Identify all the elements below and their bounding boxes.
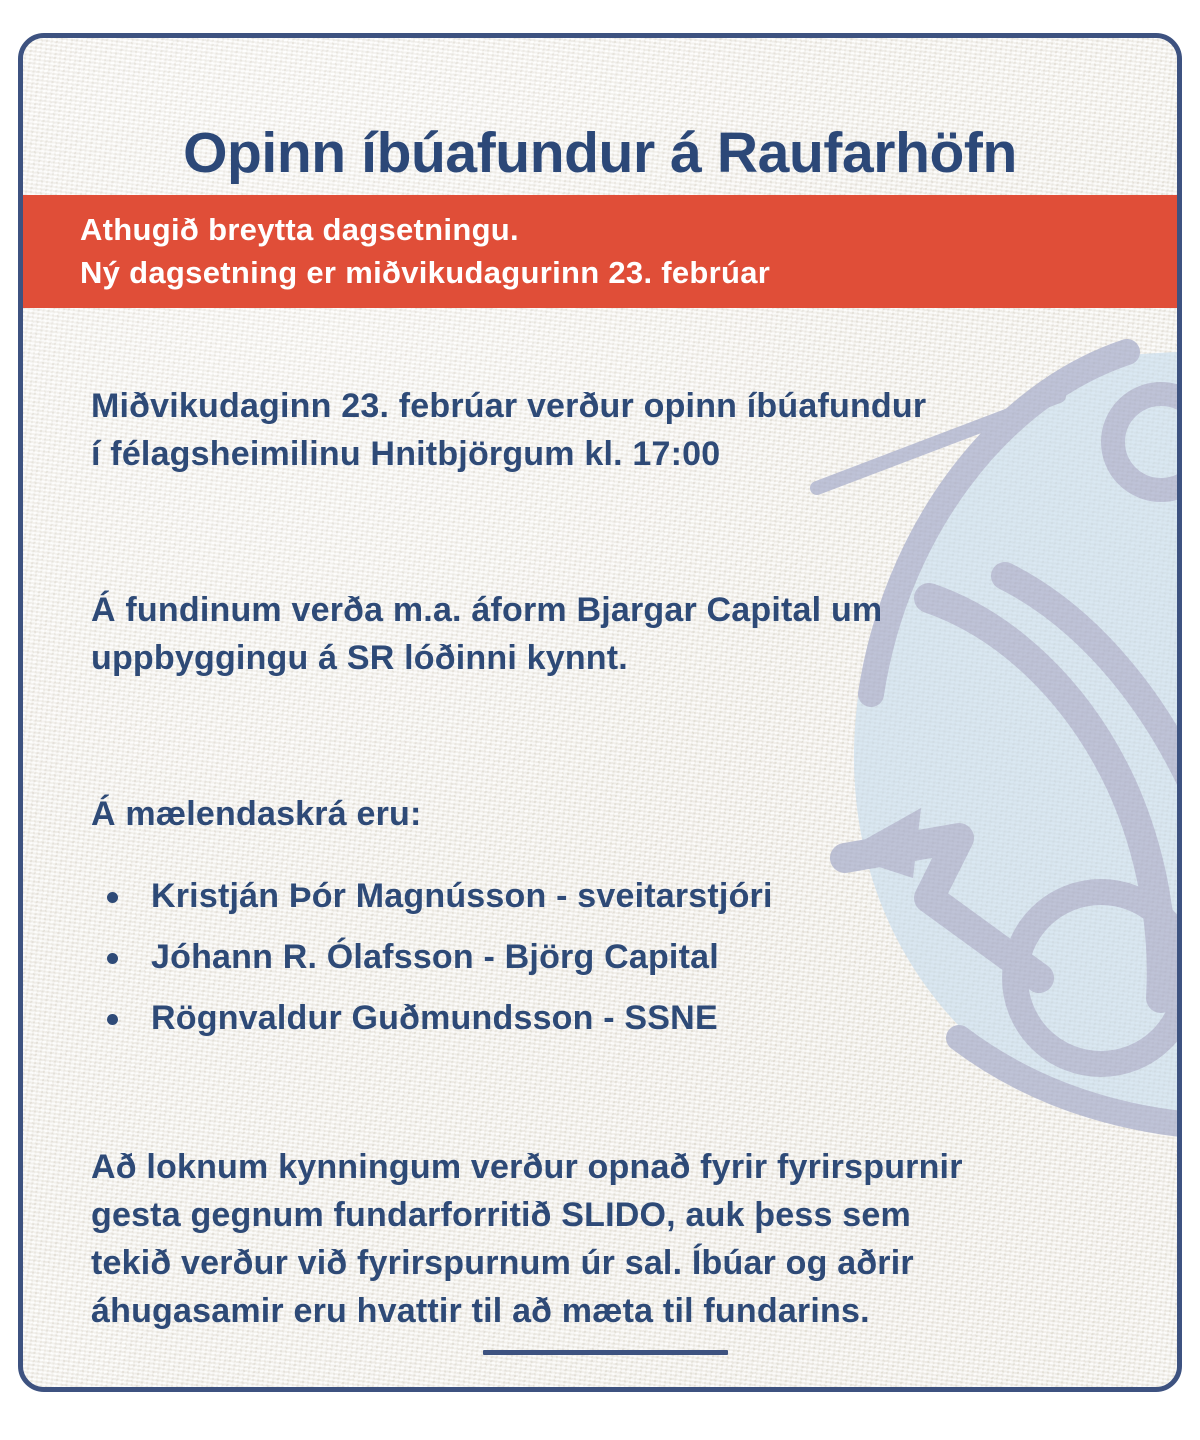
list-item: Jóhann R. Ólafsson - Björg Capital	[91, 933, 1137, 981]
speaker-name: Rögnvaldur Guðmundsson - SSNE	[151, 999, 718, 1037]
spacer	[91, 512, 1137, 552]
meeting-time-paragraph: Miðvikudaginn 23. febrúar verður opinn í…	[91, 382, 1137, 478]
list-item: Rögnvaldur Guðmundsson - SSNE	[91, 994, 1137, 1042]
questions-line-1: Að loknum kynningum verður opnað fyrir f…	[91, 1143, 1137, 1191]
body-text-region: Miðvikudaginn 23. febrúar verður opinn í…	[91, 348, 1137, 1392]
poster-content: Opinn íbúafundur á Raufarhöfn Athugið br…	[23, 38, 1177, 1387]
date-change-alert-banner: Athugið breytta dagsetningu. Ný dagsetni…	[22, 195, 1178, 308]
spacer	[91, 1055, 1137, 1109]
speaker-name: Jóhann R. Ólafsson - Björg Capital	[151, 938, 719, 976]
bullet-icon	[107, 892, 118, 903]
speakers-heading: Á mælendaskrá eru:	[91, 790, 1137, 838]
questions-line-3: tekið verður við fyrirspurnum úr sal. Íb…	[91, 1239, 1137, 1287]
bullet-icon	[107, 1014, 118, 1025]
meeting-time-line-1: Miðvikudaginn 23. febrúar verður opinn í…	[91, 382, 1137, 430]
bullet-icon	[107, 953, 118, 964]
alert-line-1: Athugið breytta dagsetningu.	[80, 209, 1178, 252]
spacer	[91, 1369, 1137, 1392]
agenda-paragraph: Á fundinum verða m.a. áform Bjargar Capi…	[91, 586, 1137, 682]
spacer	[91, 716, 1137, 756]
bottom-divider	[483, 1350, 728, 1355]
agenda-line-2: uppbyggingu á SR lóðinni kynnt.	[91, 634, 1137, 682]
agenda-line-1: Á fundinum verða m.a. áform Bjargar Capi…	[91, 586, 1137, 634]
poster-card: Opinn íbúafundur á Raufarhöfn Athugið br…	[18, 33, 1182, 1392]
questions-line-4: áhugasamir eru hvattir til að mæta til f…	[91, 1287, 1137, 1335]
page-title: Opinn íbúafundur á Raufarhöfn	[23, 124, 1177, 184]
speaker-list: Kristján Þór Magnússon - sveitarstjóri J…	[91, 872, 1137, 1042]
meeting-time-line-2: í félagsheimilinu Hnitbjörgum kl. 17:00	[91, 430, 1137, 478]
questions-paragraph: Að loknum kynningum verður opnað fyrir f…	[91, 1143, 1137, 1335]
questions-line-2: gesta gegnum fundarforritið SLIDO, auk þ…	[91, 1191, 1137, 1239]
speaker-name: Kristján Þór Magnússon - sveitarstjóri	[151, 877, 773, 915]
alert-line-2: Ný dagsetning er miðvikudagurinn 23. feb…	[80, 252, 1178, 295]
list-item: Kristján Þór Magnússon - sveitarstjóri	[91, 872, 1137, 920]
